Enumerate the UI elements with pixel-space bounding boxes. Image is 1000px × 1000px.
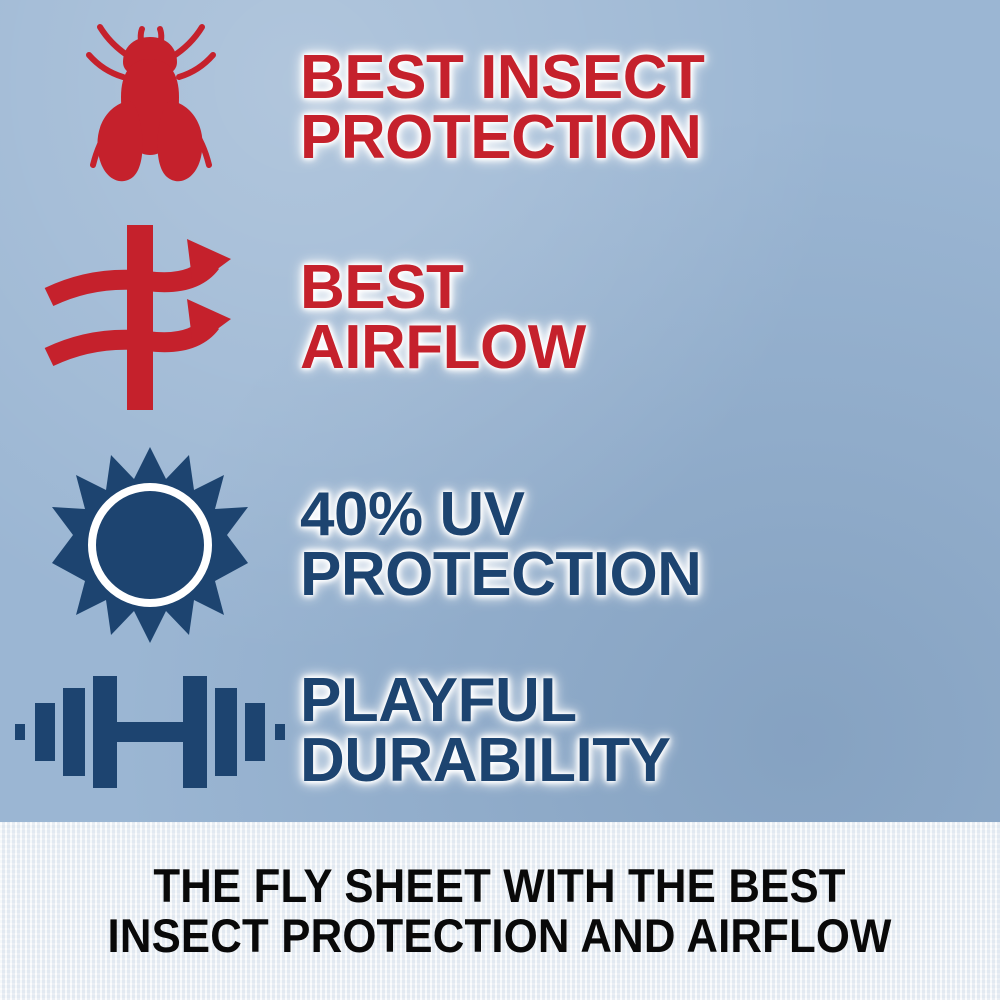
product-feature-infographic: BEST INSECT PROTECTION BEST AIRFLOW bbox=[0, 0, 1000, 1000]
feature-text-cell: 40% UV PROTECTION bbox=[300, 485, 1000, 604]
feature-label-airflow: BEST AIRFLOW bbox=[300, 258, 1000, 377]
feature-icon-cell bbox=[0, 666, 300, 796]
fly-icon bbox=[75, 15, 225, 200]
dumbbell-icon bbox=[15, 666, 285, 796]
feature-icon-cell bbox=[0, 15, 300, 200]
caption-headline: THE FLY SHEET WITH THE BEST INSECT PROTE… bbox=[108, 861, 892, 962]
feature-row-durability: PLAYFUL DURABILITY bbox=[0, 648, 1000, 813]
caption-band: THE FLY SHEET WITH THE BEST INSECT PROTE… bbox=[0, 822, 1000, 1000]
sun-uv-icon bbox=[50, 445, 250, 645]
feature-icon-cell bbox=[0, 225, 300, 410]
feature-label-uv-protection: 40% UV PROTECTION bbox=[300, 485, 1000, 604]
feature-row-uv-protection: 40% UV PROTECTION bbox=[0, 440, 1000, 650]
feature-row-insect-protection: BEST INSECT PROTECTION bbox=[0, 10, 1000, 205]
feature-label-insect-protection: BEST INSECT PROTECTION bbox=[300, 48, 1000, 167]
feature-row-airflow: BEST AIRFLOW bbox=[0, 215, 1000, 420]
feature-text-cell: BEST INSECT PROTECTION bbox=[300, 48, 1000, 167]
airflow-arrows-icon bbox=[43, 225, 258, 410]
feature-label-durability: PLAYFUL DURABILITY bbox=[300, 671, 1000, 790]
feature-text-cell: PLAYFUL DURABILITY bbox=[300, 671, 1000, 790]
feature-text-cell: BEST AIRFLOW bbox=[300, 258, 1000, 377]
feature-icon-cell bbox=[0, 445, 300, 645]
